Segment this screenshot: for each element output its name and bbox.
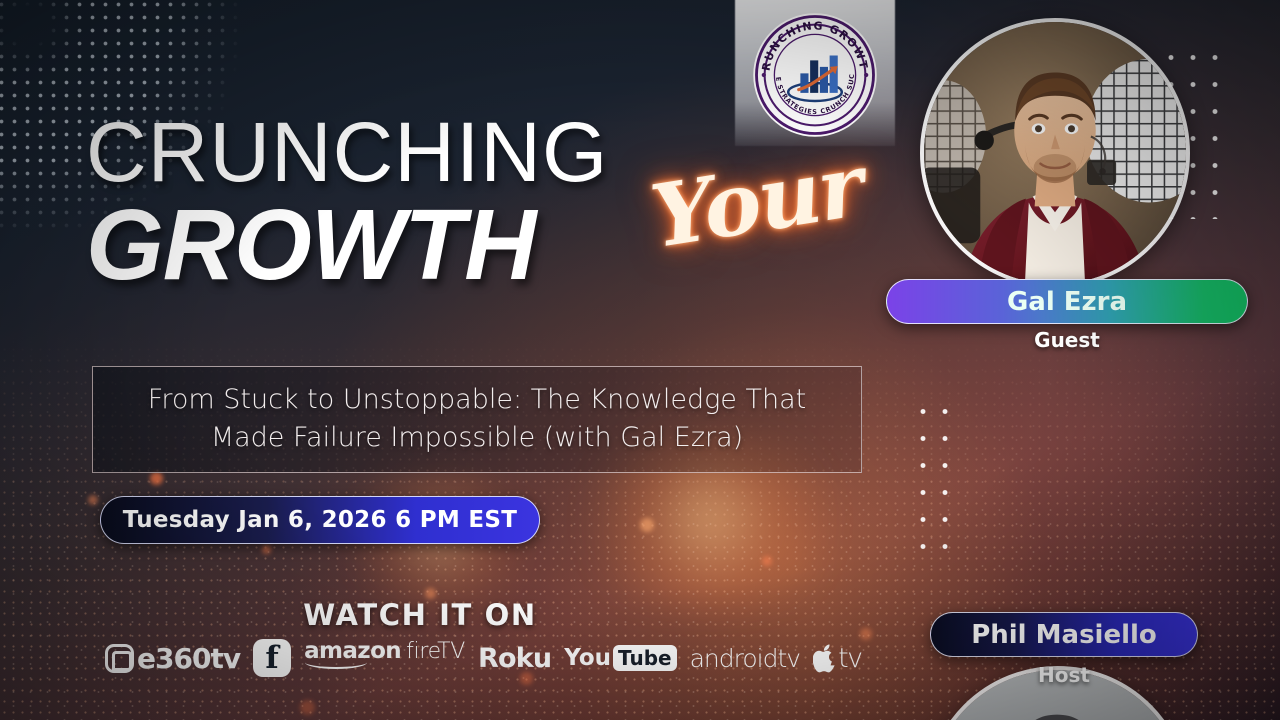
bokeh-particle [150, 472, 163, 485]
bokeh-particle [88, 495, 98, 505]
e360tv-label: e360tv [137, 642, 240, 675]
episode-title-box: From Stuck to Unstoppable: The Knowledge… [92, 366, 862, 473]
bokeh-particle [640, 518, 654, 532]
androidtv-label: androidtv [690, 644, 800, 673]
e360tv-mark-icon [105, 644, 134, 673]
schedule-datetime-text: Tuesday Jan 6, 2026 6 PM EST [123, 507, 517, 533]
bokeh-particle [762, 556, 772, 566]
platform-logos-row: e360tv f amazon fireTV Roku You Tube and… [105, 634, 805, 682]
platform-facebook-icon: f [253, 638, 291, 678]
host-name-text: Phil Masiello [971, 620, 1157, 650]
title-line-2: GROWTH [86, 197, 876, 293]
host-name-badge: Phil Masiello [930, 612, 1198, 657]
host-role-text: Host [930, 663, 1198, 687]
guest-name-badge: Gal Ezra [886, 279, 1248, 324]
roku-label: Roku [478, 643, 551, 674]
webinar-promo-poster: CRUNCHING GROWTH WHERE STRATEGIES CRUNCH… [0, 0, 1280, 720]
facebook-mark-icon: f [253, 639, 291, 677]
amazon-smile-icon [305, 661, 367, 669]
guest-name-text: Gal Ezra [1007, 287, 1127, 317]
platform-youtube-icon: You Tube [564, 638, 676, 678]
bokeh-particle [300, 700, 315, 715]
appletv-label: tv [838, 643, 862, 674]
platform-appletv-icon: tv [813, 638, 862, 678]
platform-androidtv-icon: androidtv [690, 638, 800, 678]
platform-amazon-firetv-icon: amazon fireTV [304, 638, 465, 678]
schedule-badge: Tuesday Jan 6, 2026 6 PM EST [100, 496, 540, 544]
platform-e360tv-icon: e360tv [105, 638, 240, 678]
guest-role-text: Guest [886, 328, 1248, 352]
youtube-tube-label: Tube [613, 645, 677, 671]
title-line-1: CRUNCHING [86, 112, 876, 193]
main-title: CRUNCHING GROWTH [86, 112, 876, 293]
bokeh-particle [860, 628, 872, 640]
episode-title-text: From Stuck to Unstoppable: The Knowledge… [119, 381, 835, 458]
guest-avatar [920, 18, 1190, 288]
platform-roku-icon: Roku [478, 638, 551, 678]
youtube-you-label: You [564, 645, 611, 671]
watch-on-heading: WATCH IT ON [0, 598, 840, 632]
apple-logo-icon [813, 644, 837, 673]
dot-grid-decoration-host [912, 398, 964, 558]
bokeh-particle [262, 545, 271, 554]
guest-photo [924, 22, 1186, 284]
firetv-label: fireTV [406, 639, 465, 664]
